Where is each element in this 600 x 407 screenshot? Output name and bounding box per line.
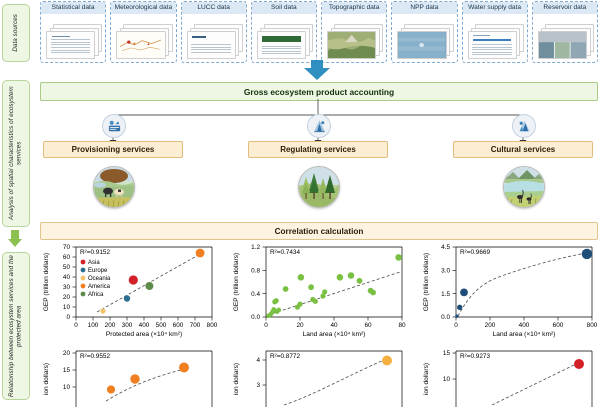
satellite-thumbnail-icon	[397, 24, 453, 59]
document-thumbnail-icon	[187, 24, 243, 59]
flow-arrow-down-icon	[304, 60, 330, 80]
cultural-service-icon	[512, 114, 536, 138]
scatter-series-green	[266, 254, 402, 318]
scatter-series-blue	[455, 249, 592, 318]
scatter-series-orange	[107, 363, 189, 394]
svg-text:America: America	[88, 284, 111, 290]
svg-text:Africa: Africa	[88, 292, 104, 298]
y-axis-label: GEP (trillion dollars)	[43, 253, 50, 312]
svg-text:1.2: 1.2	[251, 244, 260, 251]
gep-accounting-banner-label: Gross ecosystem product accounting	[244, 87, 394, 97]
provisioning-service-icon	[102, 114, 126, 138]
charts-row-2: 20 15 10 R²=0.9552 ion dollars)	[34, 347, 600, 407]
data-source-label-soil: Soil data	[252, 2, 316, 14]
form-thumbnail-icon	[468, 24, 524, 59]
x-axis-label: Land area (×10⁴ km²)	[303, 331, 366, 338]
y-axis-label: ion dollars)	[233, 363, 240, 395]
r2-label: R²=0.9152	[80, 249, 110, 256]
svg-text:0.0: 0.0	[251, 314, 260, 321]
r2-label: R²=0.9552	[80, 353, 110, 360]
correlation-calculation-banner-label: Correlation calculation	[275, 227, 364, 236]
svg-text:40: 40	[330, 322, 338, 329]
svg-text:800: 800	[207, 322, 218, 329]
data-source-card-reservoir[interactable]: Reservoir data	[532, 1, 598, 63]
svg-text:1.5: 1.5	[441, 291, 450, 298]
svg-text:300: 300	[122, 322, 133, 329]
svg-text:700: 700	[190, 322, 201, 329]
scatter-point	[124, 295, 130, 301]
rail-arrow-icon	[8, 230, 22, 247]
rail-label-spatial-analysis: Analysis of spatial characteristics of e…	[8, 81, 23, 226]
table-thumbnail-icon	[257, 24, 313, 59]
chart-legend: Asia Europe Oceania America Africa	[81, 260, 111, 299]
svg-text:3.0: 3.0	[441, 268, 450, 275]
svg-text:50: 50	[63, 264, 71, 271]
r2-label: R²=0.9273	[460, 353, 490, 360]
rail-item-relationship: Relationship between ecosystem services …	[2, 252, 30, 400]
stage-rail: Data sources Analysis of spatial charact…	[2, 0, 32, 400]
scatter-series-yellow	[382, 356, 392, 366]
svg-text:600: 600	[553, 322, 564, 329]
svg-text:0: 0	[74, 322, 78, 329]
chart-gep-vs-land-area-green: 0.0 0.4 0.8 1.2 0 20 40 60 80	[224, 241, 408, 341]
charts-row-1: 0 10 20 30 40 50 60 70 0 100	[34, 241, 600, 341]
svg-text:100: 100	[88, 322, 99, 329]
svg-text:500: 500	[156, 322, 167, 329]
svg-text:200: 200	[485, 322, 496, 329]
r2-label: R²=0.8772	[270, 353, 300, 360]
svg-text:40: 40	[63, 274, 71, 281]
svg-text:0: 0	[66, 314, 70, 321]
wetland-birds-photo	[503, 166, 545, 208]
svg-text:400: 400	[139, 322, 150, 329]
data-sources-row: Statistical data Meteorological data	[40, 1, 598, 63]
svg-text:30: 30	[63, 284, 71, 291]
svg-text:600: 600	[173, 322, 184, 329]
svg-text:Europe: Europe	[88, 268, 108, 274]
photo-thumbnail-icon	[538, 24, 594, 59]
svg-text:4.5: 4.5	[441, 244, 450, 251]
svg-text:3: 3	[256, 382, 260, 389]
scatter-point	[145, 282, 153, 290]
svg-text:80: 80	[398, 322, 406, 329]
chart-bottom-right: 15 10 R²=0.9273 ion dollars)	[414, 347, 598, 407]
svg-text:400: 400	[519, 322, 530, 329]
data-source-card-npp[interactable]: NPP data	[391, 1, 457, 63]
correlation-calculation-banner: Correlation calculation	[40, 222, 598, 240]
svg-text:10: 10	[63, 384, 71, 391]
svg-text:0: 0	[454, 322, 458, 329]
data-source-label-water-supply: Water supply data	[463, 2, 527, 14]
svg-text:800: 800	[587, 322, 598, 329]
data-source-label-topographic: Topographic data	[322, 2, 386, 14]
service-label-cultural: Cultural services	[453, 141, 593, 158]
svg-text:20: 20	[63, 350, 71, 357]
rail-item-data-sources: Data sources	[2, 4, 30, 62]
document-thumbnail-icon	[46, 24, 102, 59]
chart-gep-vs-protected-area: 0 10 20 30 40 50 60 70 0 100	[34, 241, 218, 341]
data-source-card-water-supply[interactable]: Water supply data	[462, 1, 528, 63]
data-source-label-reservoir: Reservoir data	[533, 2, 597, 14]
svg-text:0.4: 0.4	[251, 291, 260, 298]
svg-text:Asia: Asia	[88, 260, 100, 266]
rail-label-relationship: Relationship between ecosystem services …	[8, 253, 23, 399]
svg-text:Oceania: Oceania	[88, 276, 111, 282]
svg-text:0.8: 0.8	[251, 268, 260, 275]
scatter-point	[196, 249, 205, 258]
y-axis-label: ion dollars)	[43, 363, 50, 395]
data-source-card-statistical[interactable]: Statistical data	[40, 1, 106, 63]
rail-label-data-sources: Data sources	[12, 14, 20, 52]
chart-gep-vs-land-area-blue: 0.0 1.5 3.0 4.5 0 200 400 600 800	[414, 241, 598, 341]
charts-grid: 0 10 20 30 40 50 60 70 0 100	[34, 241, 600, 407]
service-label-regulating: Regulating services	[248, 141, 388, 158]
terrain-thumbnail-icon	[327, 24, 383, 59]
svg-text:0.0: 0.0	[441, 314, 450, 321]
chart-bottom-left: 20 15 10 R²=0.9552 ion dollars)	[34, 347, 218, 407]
forest-photo	[298, 166, 340, 208]
data-source-card-topographic[interactable]: Topographic data	[321, 1, 387, 63]
data-source-label-lucc: LUCC data	[182, 2, 246, 14]
data-source-label-meteorological: Meteorological data	[111, 2, 175, 14]
svg-text:20: 20	[63, 294, 71, 301]
data-source-card-lucc[interactable]: LUCC data	[181, 1, 247, 63]
data-source-label-npp: NPP data	[392, 2, 456, 14]
y-axis-label: GEP (trillion dollars)	[233, 253, 240, 312]
r2-label: R²=0.7434	[270, 249, 300, 256]
y-axis-label: GEP (trillion dollars)	[423, 253, 430, 312]
svg-text:10: 10	[63, 304, 71, 311]
farm-livestock-photo	[93, 166, 135, 208]
svg-text:60: 60	[364, 322, 372, 329]
svg-text:10: 10	[443, 376, 451, 383]
service-label-provisioning: Provisioning services	[43, 141, 183, 158]
svg-text:20: 20	[296, 322, 304, 329]
svg-text:15: 15	[63, 367, 71, 374]
svg-text:200: 200	[105, 322, 116, 329]
scatter-point	[129, 275, 138, 284]
svg-text:70: 70	[63, 244, 71, 251]
svg-text:4: 4	[256, 357, 260, 364]
scatter-series-red	[574, 359, 584, 369]
x-axis-label: Land area (×10⁴ km²)	[493, 331, 556, 338]
svg-text:15: 15	[443, 350, 451, 357]
data-source-label-statistical: Statistical data	[41, 2, 105, 14]
svg-text:0: 0	[264, 322, 268, 329]
figure-canvas: Data sources Analysis of spatial charact…	[0, 0, 600, 400]
x-axis-label: Protected area (×10⁴ km²)	[106, 331, 182, 338]
chart-bottom-middle: 4 3 R²=0.8772 ion dollars)	[224, 347, 408, 407]
y-axis-label: ion dollars)	[423, 363, 430, 395]
r2-label: R²=0.9669	[460, 249, 490, 256]
data-source-card-meteorological[interactable]: Meteorological data	[110, 1, 176, 63]
rail-item-spatial-analysis: Analysis of spatial characteristics of e…	[2, 80, 30, 227]
map-thumbnail-icon	[116, 24, 172, 59]
svg-text:60: 60	[63, 254, 71, 261]
data-source-card-soil[interactable]: Soil data	[251, 1, 317, 63]
scatter-point	[100, 308, 105, 313]
regulating-service-icon	[307, 114, 331, 138]
